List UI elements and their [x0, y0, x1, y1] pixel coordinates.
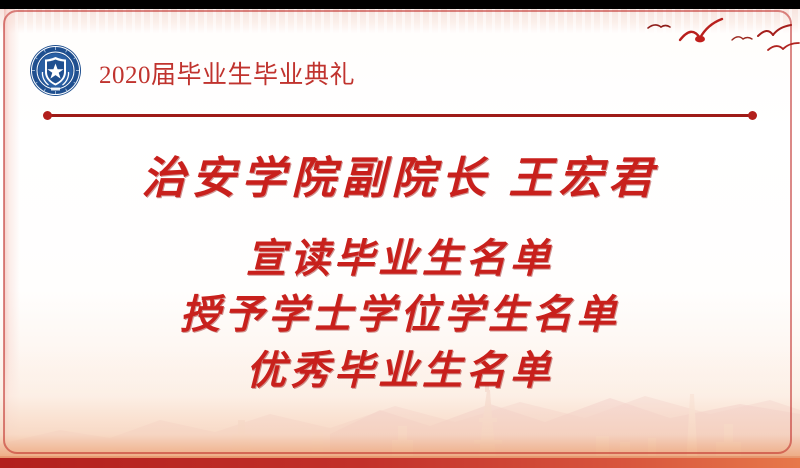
divider-dot-icon [748, 111, 757, 120]
agenda-line-3: 优秀毕业生名单 [0, 338, 800, 396]
page-title: 2020届毕业生毕业典礼 [99, 55, 355, 91]
divider-dot-icon [43, 111, 52, 120]
agenda-line-1: 宣读毕业生名单 [0, 226, 800, 284]
seal-svg [29, 44, 82, 97]
divider [47, 114, 753, 117]
top-black-bar [0, 0, 800, 9]
birds-svg [640, 14, 800, 76]
presentation-slide: 2020届毕业生毕业典礼 治安学院副院长 王宏君 宣读毕业生名单 授予学士学位学… [0, 0, 800, 468]
speaker-line: 治安学院副院长 王宏君 [0, 142, 800, 206]
flying-birds-icon [640, 14, 800, 76]
bottom-red-band [0, 458, 800, 468]
agenda-line-2: 授予学士学位学生名单 [0, 282, 800, 340]
university-seal-icon [29, 44, 82, 97]
